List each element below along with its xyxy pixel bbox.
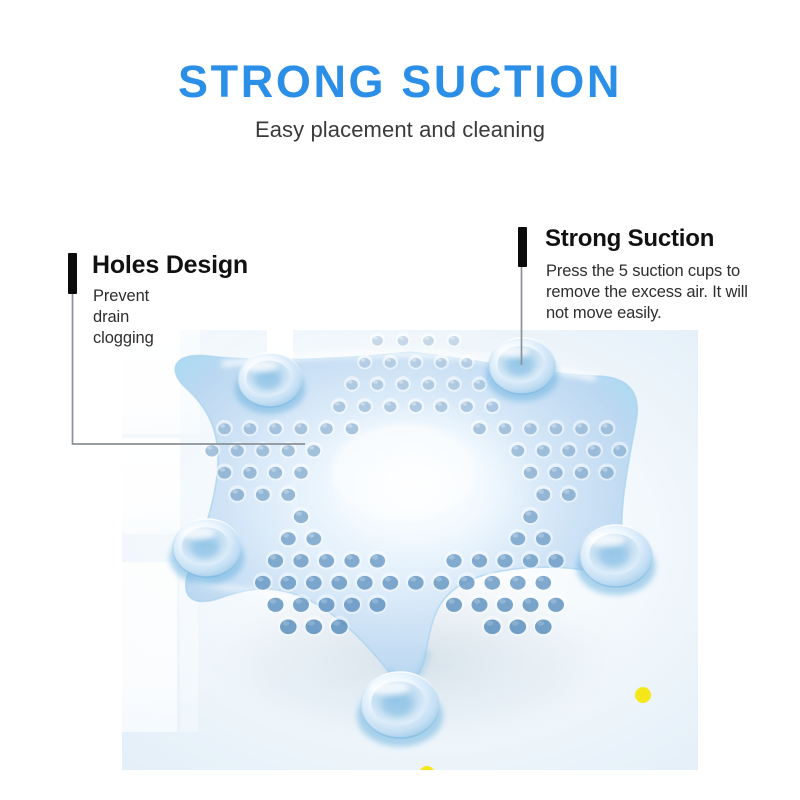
- callout-title-holes-design: Holes Design: [92, 252, 248, 280]
- callout-title-strong-suction: Strong Suction: [545, 226, 714, 252]
- product-photo-panel: [122, 330, 698, 770]
- callout-accent-bar: [68, 253, 77, 294]
- callout-accent-bar: [518, 227, 527, 267]
- infographic-page: STRONG SUCTION Easy placement and cleani…: [0, 0, 800, 800]
- strong-suction-marker-dot: [635, 687, 651, 703]
- page-subtitle: Easy placement and cleaning: [0, 117, 800, 143]
- callout-body-strong-suction: Press the 5 suction cups to remove the e…: [546, 261, 762, 323]
- page-title: STRONG SUCTION: [0, 58, 800, 105]
- product-image: [122, 330, 698, 770]
- callout-body-holes-design: Prevent drain clogging: [93, 286, 154, 348]
